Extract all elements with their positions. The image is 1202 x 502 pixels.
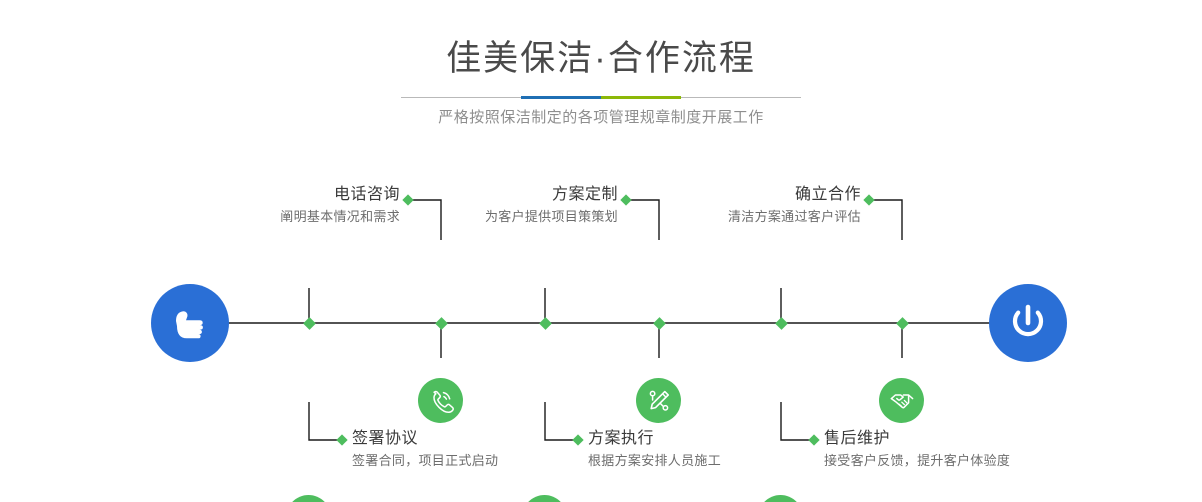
divider-green-segment <box>601 96 681 99</box>
phone-call-icon <box>427 387 455 415</box>
step-title-sign-agreement: 签署协议 <box>352 428 612 450</box>
step-desc-establish-cooperation: 清洁方案通过客户评估 <box>609 206 861 228</box>
handshake-icon <box>888 387 916 415</box>
step-desc-phone-consult: 阐明基本情况和需求 <box>148 206 400 228</box>
label-diamond-sign-agreement <box>336 434 347 445</box>
elbow-establish-cooperation <box>869 200 902 213</box>
step-title-phone-consult: 电话咨询 <box>148 184 400 206</box>
cooperation-flow-page: 佳美保洁·合作流程 严格按照保洁制定的各项管理规章制度开展工作 <box>0 0 1202 502</box>
spine-diamond-establish-cooperation <box>896 317 909 330</box>
label-diamond-establish-cooperation <box>863 194 874 205</box>
step-label-plan-execute: 方案执行 根据方案安排人员施工 <box>588 428 848 472</box>
flow-end-node[interactable] <box>989 284 1067 362</box>
step-title-plan-custom: 方案定制 <box>366 184 618 206</box>
step-title-after-sales: 售后维护 <box>824 428 1124 450</box>
power-icon <box>1005 300 1051 346</box>
step-label-after-sales: 售后维护 接受客户反馈，提升客户体验度 <box>824 428 1124 472</box>
pencil-ruler-icon <box>645 387 673 415</box>
step-title-establish-cooperation: 确立合作 <box>609 184 861 206</box>
spine-diamond-after-sales <box>775 317 788 330</box>
step-label-sign-agreement: 签署协议 签署合同，项目正式启动 <box>352 428 612 472</box>
title-divider <box>401 96 801 99</box>
step-label-phone-consult: 电话咨询 阐明基本情况和需求 <box>148 184 400 228</box>
page-subtitle: 严格按照保洁制定的各项管理规章制度开展工作 <box>0 106 1202 130</box>
pointing-hand-icon <box>167 300 213 346</box>
step-desc-sign-agreement: 签署合同，项目正式启动 <box>352 450 612 472</box>
step-node-establish-cooperation[interactable] <box>879 378 924 423</box>
elbow-sign-agreement <box>309 428 342 440</box>
step-node-plan-custom[interactable] <box>636 378 681 423</box>
step-desc-after-sales: 接受客户反馈，提升客户体验度 <box>824 450 1124 472</box>
spine-diamond-phone-consult <box>435 317 448 330</box>
step-node-phone-consult[interactable] <box>418 378 463 423</box>
step-label-establish-cooperation: 确立合作 清洁方案通过客户评估 <box>609 184 861 228</box>
step-desc-plan-execute: 根据方案安排人员施工 <box>588 450 848 472</box>
spine-diamond-sign-agreement <box>303 317 316 330</box>
step-label-plan-custom: 方案定制 为客户提供项目策策划 <box>366 184 618 228</box>
spine-diamond-plan-execute <box>539 317 552 330</box>
divider-blue-segment <box>521 96 601 99</box>
flow-diagram: 电话咨询 阐明基本情况和需求 方案定制 为客户提供项目策策划 确立合作 清洁方案… <box>0 140 1202 502</box>
flow-start-node[interactable] <box>151 284 229 362</box>
spine-diamond-plan-custom <box>653 317 666 330</box>
page-header: 佳美保洁·合作流程 严格按照保洁制定的各项管理规章制度开展工作 <box>0 0 1202 140</box>
page-title: 佳美保洁·合作流程 <box>0 36 1202 82</box>
step-desc-plan-custom: 为客户提供项目策策划 <box>366 206 618 228</box>
step-title-plan-execute: 方案执行 <box>588 428 848 450</box>
